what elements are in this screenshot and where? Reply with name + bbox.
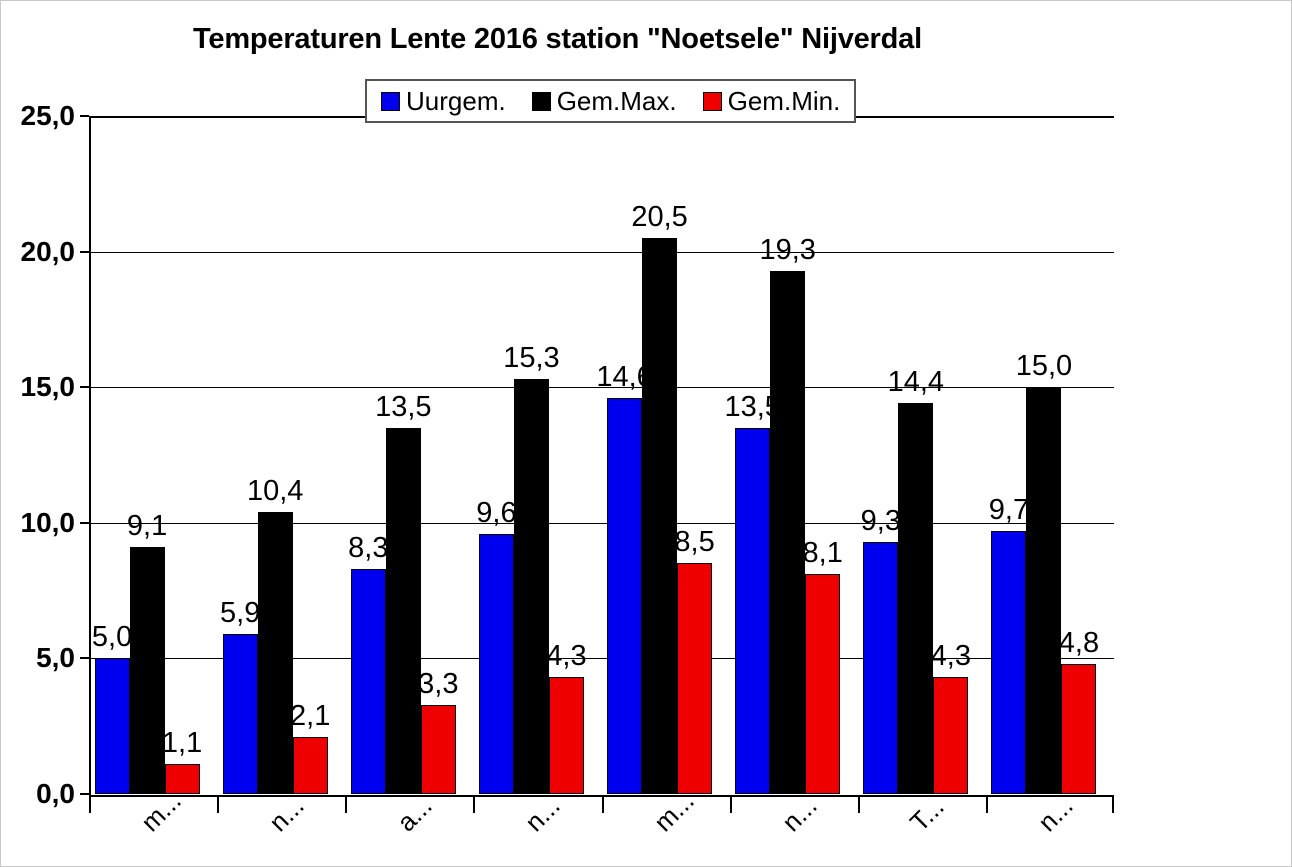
bar-uurgem xyxy=(735,428,770,794)
x-axis-tick-mark xyxy=(602,797,604,813)
bar-value-label: 8,3 xyxy=(348,532,388,565)
x-axis-tick-label: a... xyxy=(391,790,438,837)
plot-area: 5,09,11,1m...5,910,42,1n...8,313,53,3a..… xyxy=(89,116,1114,796)
y-axis-tick-label: 25,0 xyxy=(21,100,76,132)
bar-gem-max xyxy=(514,379,549,794)
bar-gem-max xyxy=(642,238,677,794)
bar-gem-max xyxy=(770,271,805,794)
bar-uurgem xyxy=(95,658,130,794)
x-axis-tick-mark xyxy=(730,797,732,813)
bar-value-label: 9,7 xyxy=(989,494,1029,527)
bar-value-label: 2,1 xyxy=(290,700,330,733)
legend-item-gem-max: Gem.Max. xyxy=(532,86,677,117)
bar-group: 5,09,11,1 xyxy=(95,116,200,794)
bar-uurgem xyxy=(607,398,642,794)
bar-value-label: 1,1 xyxy=(162,727,202,760)
bar-uurgem xyxy=(351,569,386,794)
bar-gem-min xyxy=(933,677,968,794)
x-axis-tick-mark xyxy=(89,797,91,813)
legend-swatch-red-icon xyxy=(703,92,722,111)
bar-gem-max xyxy=(258,512,293,794)
bar-value-label: 15,0 xyxy=(1016,350,1072,383)
bar-gem-min xyxy=(677,563,712,794)
y-axis-tick-label: 0,0 xyxy=(36,778,75,810)
legend-item-uurgem: Uurgem. xyxy=(381,86,506,117)
chart-page: Temperaturen Lente 2016 station "Noetsel… xyxy=(0,0,1292,867)
chart-legend: Uurgem. Gem.Max. Gem.Min. xyxy=(365,79,856,123)
bar-gem-min xyxy=(293,737,328,794)
bar-gem-min xyxy=(549,677,584,794)
bar-value-label: 8,1 xyxy=(803,537,843,570)
x-axis-tick-mark xyxy=(858,797,860,813)
y-axis-tick-label: 5,0 xyxy=(36,642,75,674)
bar-group: 8,313,53,3 xyxy=(351,116,456,794)
x-axis-tick-label: n... xyxy=(519,790,566,837)
bar-gem-max xyxy=(898,403,933,794)
bar-group: 9,314,44,3 xyxy=(863,116,968,794)
y-axis-tick-mark xyxy=(80,793,89,795)
y-axis-tick-mark xyxy=(80,251,89,253)
x-axis-tick-mark xyxy=(345,797,347,813)
bar-group: 14,620,58,5 xyxy=(607,116,712,794)
x-axis-tick-mark xyxy=(217,797,219,813)
bar-uurgem xyxy=(991,531,1026,794)
bar-gem-min xyxy=(165,764,200,794)
legend-label-uurgem: Uurgem. xyxy=(406,86,506,117)
bar-value-label: 5,9 xyxy=(220,597,260,630)
legend-swatch-black-icon xyxy=(532,92,551,111)
x-axis-tick-label: n... xyxy=(776,790,823,837)
y-axis-line xyxy=(89,116,91,796)
bar-value-label: 8,5 xyxy=(674,526,714,559)
legend-item-gem-min: Gem.Min. xyxy=(703,86,841,117)
bar-value-label: 15,3 xyxy=(503,342,559,375)
x-axis-tick-mark xyxy=(1112,797,1114,813)
bar-uurgem xyxy=(223,634,258,794)
legend-swatch-blue-icon xyxy=(381,92,400,111)
chart-title: Temperaturen Lente 2016 station "Noetsel… xyxy=(1,23,1114,56)
bar-value-label: 20,5 xyxy=(631,201,687,234)
x-axis-tick-mark xyxy=(473,797,475,813)
bar-uurgem xyxy=(479,534,514,794)
bar-gem-min xyxy=(1061,664,1096,794)
bar-value-label: 4,8 xyxy=(1059,627,1099,660)
y-axis-tick-label: 10,0 xyxy=(21,507,76,539)
bar-gem-max xyxy=(386,428,421,794)
x-axis-tick-label: T... xyxy=(904,791,950,837)
bar-value-label: 9,1 xyxy=(127,510,167,543)
legend-label-gem-max: Gem.Max. xyxy=(557,86,677,117)
bar-gem-max xyxy=(130,547,165,794)
bar-value-label: 14,4 xyxy=(888,366,944,399)
bar-gem-min xyxy=(805,574,840,794)
bar-value-label: 19,3 xyxy=(759,234,815,267)
y-axis-tick-label: 15,0 xyxy=(21,371,76,403)
bar-uurgem xyxy=(863,542,898,794)
x-axis-tick-label: n... xyxy=(1032,790,1079,837)
y-axis-tick-mark xyxy=(80,115,89,117)
bar-value-label: 4,3 xyxy=(546,640,586,673)
bar-value-label: 3,3 xyxy=(418,668,458,701)
bar-value-label: 5,0 xyxy=(92,621,132,654)
y-axis-tick-mark xyxy=(80,522,89,524)
y-axis-tick-mark xyxy=(80,386,89,388)
bar-group: 13,519,38,1 xyxy=(735,116,840,794)
bar-value-label: 13,5 xyxy=(375,391,431,424)
x-axis-tick-label: n... xyxy=(263,790,310,837)
x-axis-tick-mark xyxy=(986,797,988,813)
bar-value-label: 10,4 xyxy=(247,475,303,508)
y-axis-tick-mark xyxy=(80,657,89,659)
bar-group: 9,715,04,8 xyxy=(991,116,1096,794)
bar-group: 5,910,42,1 xyxy=(223,116,328,794)
y-axis-tick-label: 20,0 xyxy=(21,236,76,268)
bar-value-label: 9,3 xyxy=(861,505,901,538)
bar-gem-min xyxy=(421,705,456,794)
y-axis: 0,05,010,015,020,025,0 xyxy=(1,116,89,798)
legend-label-gem-min: Gem.Min. xyxy=(728,86,841,117)
bar-value-label: 4,3 xyxy=(931,640,971,673)
bar-group: 9,615,34,3 xyxy=(479,116,584,794)
bar-gem-max xyxy=(1026,387,1061,794)
bar-value-label: 9,6 xyxy=(476,497,516,530)
